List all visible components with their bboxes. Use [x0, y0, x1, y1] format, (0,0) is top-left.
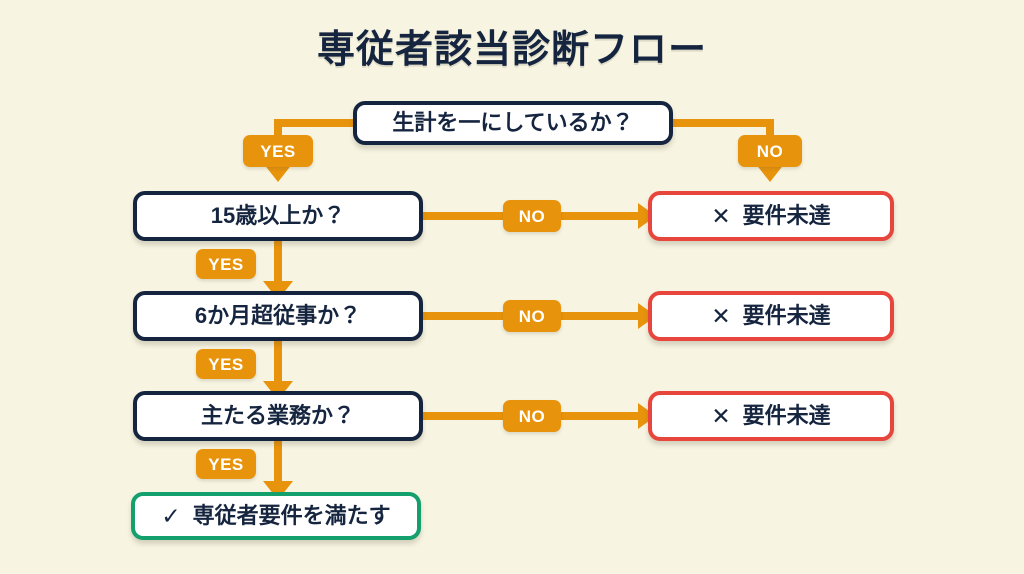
result-box-fail-2-label: 要件未達 [743, 305, 831, 327]
badge-step-3-yes: YES [196, 449, 256, 479]
connector-step-2-yes-vertical [274, 341, 282, 385]
decision-box-step-2-label: 6か月超従事か？ [195, 305, 361, 327]
connector-step-1-yes-vertical [274, 241, 282, 285]
decision-box-step-3-label: 主たる業務か？ [201, 405, 355, 427]
connector-root-yes-horizontal [274, 119, 357, 127]
result-box-fail-1[interactable]: ✕ 要件未達 [648, 191, 894, 241]
connector-step-3-yes-vertical [274, 441, 282, 485]
cross-icon: ✕ [711, 205, 730, 228]
result-box-fail-3[interactable]: ✕ 要件未達 [648, 391, 894, 441]
result-box-fail-2[interactable]: ✕ 要件未達 [648, 291, 894, 341]
badge-step-3-no: NO [503, 400, 561, 432]
badge-step-2-yes: YES [196, 349, 256, 379]
decision-box-step-1-label: 15歳以上か？ [211, 205, 345, 227]
flowchart-canvas: 専従者該当診断フロー 生計を一にしているか？ YES NO 15歳以上か？ NO… [0, 0, 1024, 574]
badge-step-1-yes: YES [196, 249, 256, 279]
decision-box-step-2[interactable]: 6か月超従事か？ [133, 291, 423, 341]
badge-root-yes: YES [243, 135, 313, 167]
decision-box-step-1[interactable]: 15歳以上か？ [133, 191, 423, 241]
result-box-fail-1-label: 要件未達 [743, 205, 831, 227]
result-box-fail-3-label: 要件未達 [743, 405, 831, 427]
result-box-pass-label: 専従者要件を満たす [193, 505, 391, 527]
result-box-pass[interactable]: ✓ 専従者要件を満たす [131, 492, 421, 540]
badge-root-no: NO [738, 135, 802, 167]
connector-root-no-horizontal [669, 119, 774, 127]
page-title: 専従者該当診断フロー [0, 18, 1024, 73]
cross-icon: ✕ [711, 305, 730, 328]
check-icon: ✓ [161, 505, 180, 528]
decision-box-root[interactable]: 生計を一にしているか？ [353, 101, 673, 145]
badge-step-1-no: NO [503, 200, 561, 232]
decision-box-step-3[interactable]: 主たる業務か？ [133, 391, 423, 441]
cross-icon: ✕ [711, 405, 730, 428]
badge-step-2-no: NO [503, 300, 561, 332]
decision-box-root-label: 生計を一にしているか？ [392, 112, 633, 134]
